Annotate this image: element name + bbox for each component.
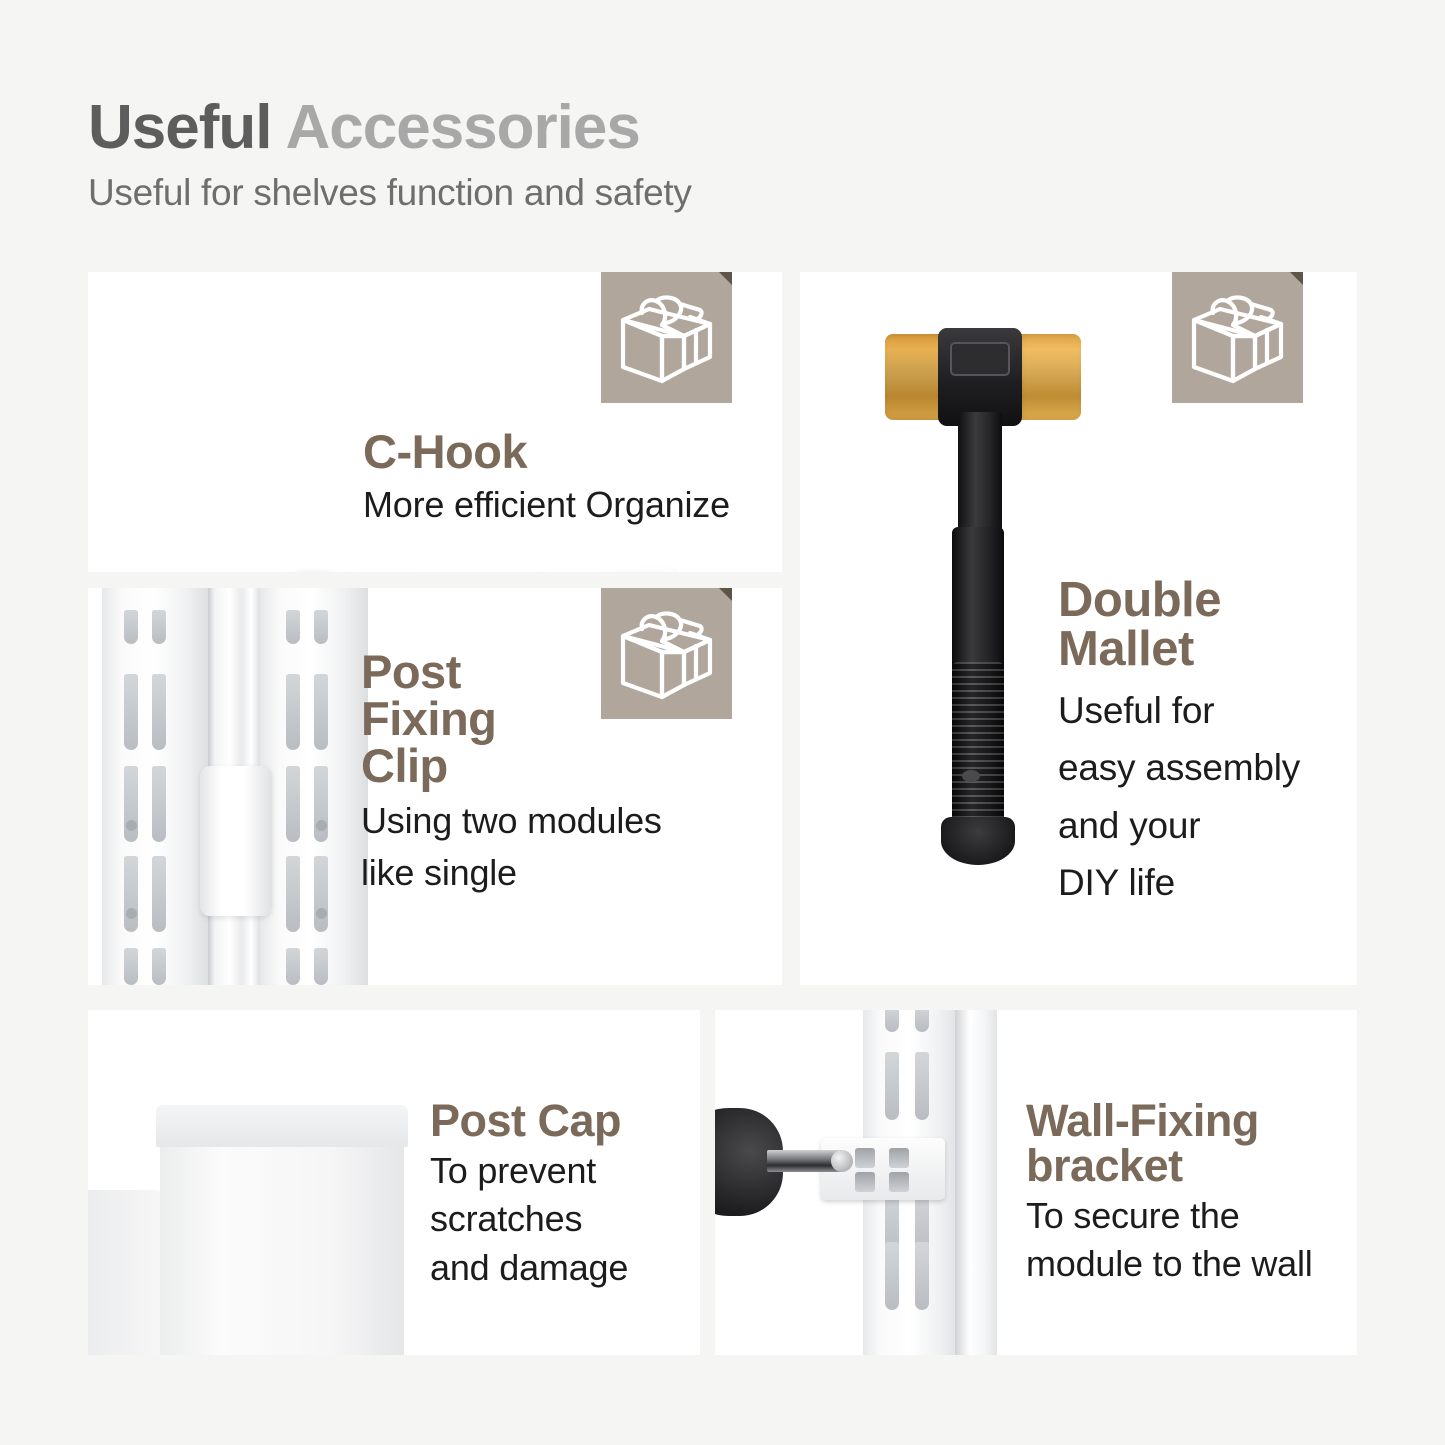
- double-mallet-description-line4: DIY life: [1058, 862, 1300, 903]
- gift-box-icon: [618, 291, 715, 385]
- slotted-post-left: [102, 588, 210, 985]
- post-cap-top: [156, 1105, 408, 1147]
- double-mallet-text-block: Double Mallet Useful for easy assembly a…: [1058, 576, 1300, 904]
- screw-head: [831, 1150, 853, 1172]
- wall-fixing-bracket-heading-line2: bracket: [1026, 1143, 1313, 1188]
- c-hook-description: More efficient Organize: [363, 485, 730, 525]
- mallet-handle-end-cap: [941, 817, 1015, 865]
- mallet-grip-ribs: [952, 662, 1004, 822]
- page-title-primary: Useful: [88, 93, 271, 162]
- c-hook-text-block: C-Hook More efficient Organize: [363, 428, 730, 525]
- gift-badge-double-mallet: [1172, 272, 1303, 403]
- post-fixing-clip-description-line1: Using two modules: [361, 801, 662, 841]
- double-mallet-description-line1: Useful for: [1058, 690, 1300, 731]
- post-cap-description-line3: and damage: [430, 1248, 628, 1288]
- post-fixing-clip-description-line2: like single: [361, 853, 662, 893]
- post-cap-heading: Post Cap: [430, 1098, 628, 1143]
- wall-fixing-bracket-text-block: Wall-Fixing bracket To secure the module…: [1026, 1098, 1313, 1285]
- wall-fixing-bracket-description-line2: module to the wall: [1026, 1244, 1313, 1284]
- corner-fold-icon: [1290, 272, 1303, 285]
- post-front-edge: [955, 1010, 997, 1355]
- slotted-post-right: [260, 588, 368, 985]
- wall-fixing-bracket-heading-line1: Wall-Fixing: [1026, 1098, 1313, 1143]
- page-title: UsefulAccessories: [88, 95, 692, 160]
- c-hook-heading: C-Hook: [363, 428, 730, 475]
- post-cap-description-line1: To prevent: [430, 1151, 628, 1191]
- double-mallet-heading-line2: Mallet: [1058, 625, 1300, 674]
- mallet-neck: [958, 412, 1002, 542]
- post-fixing-clip-heading-line1: Post: [361, 648, 662, 695]
- post-cap-text-block: Post Cap To prevent scratches and damage: [430, 1098, 628, 1288]
- mallet-handle-dimple: [962, 770, 980, 782]
- post-fixing-clip-text-block: Post Fixing Clip Using two modules like …: [361, 648, 662, 894]
- page-subtitle: Useful for shelves function and safety: [88, 172, 692, 214]
- corner-fold-icon: [719, 272, 732, 285]
- post-cap-description-line2: scratches: [430, 1199, 628, 1239]
- wall-fixing-bracket-description-line1: To secure the: [1026, 1196, 1313, 1236]
- post-fixing-clip-heading-line2: Fixing: [361, 695, 662, 742]
- post-fixing-clip-heading-line3: Clip: [361, 742, 662, 789]
- fixing-clip: [200, 766, 272, 916]
- page-title-secondary: Accessories: [285, 93, 639, 162]
- corner-fold-icon: [719, 588, 732, 601]
- gift-box-icon: [1189, 291, 1286, 385]
- adjacent-post: [88, 1190, 164, 1355]
- shelf-beam-lip: [88, 565, 678, 572]
- double-mallet-description-line3: and your: [1058, 805, 1300, 846]
- mallet-head-right: [1015, 334, 1081, 420]
- mallet-brand-plate: [950, 342, 1010, 376]
- double-mallet-description-line2: easy assembly: [1058, 747, 1300, 788]
- post-column: [160, 1140, 404, 1355]
- double-mallet-heading-line1: Double: [1058, 576, 1300, 625]
- page-header: UsefulAccessories Useful for shelves fun…: [88, 95, 692, 214]
- gift-badge-c-hook: [601, 272, 732, 403]
